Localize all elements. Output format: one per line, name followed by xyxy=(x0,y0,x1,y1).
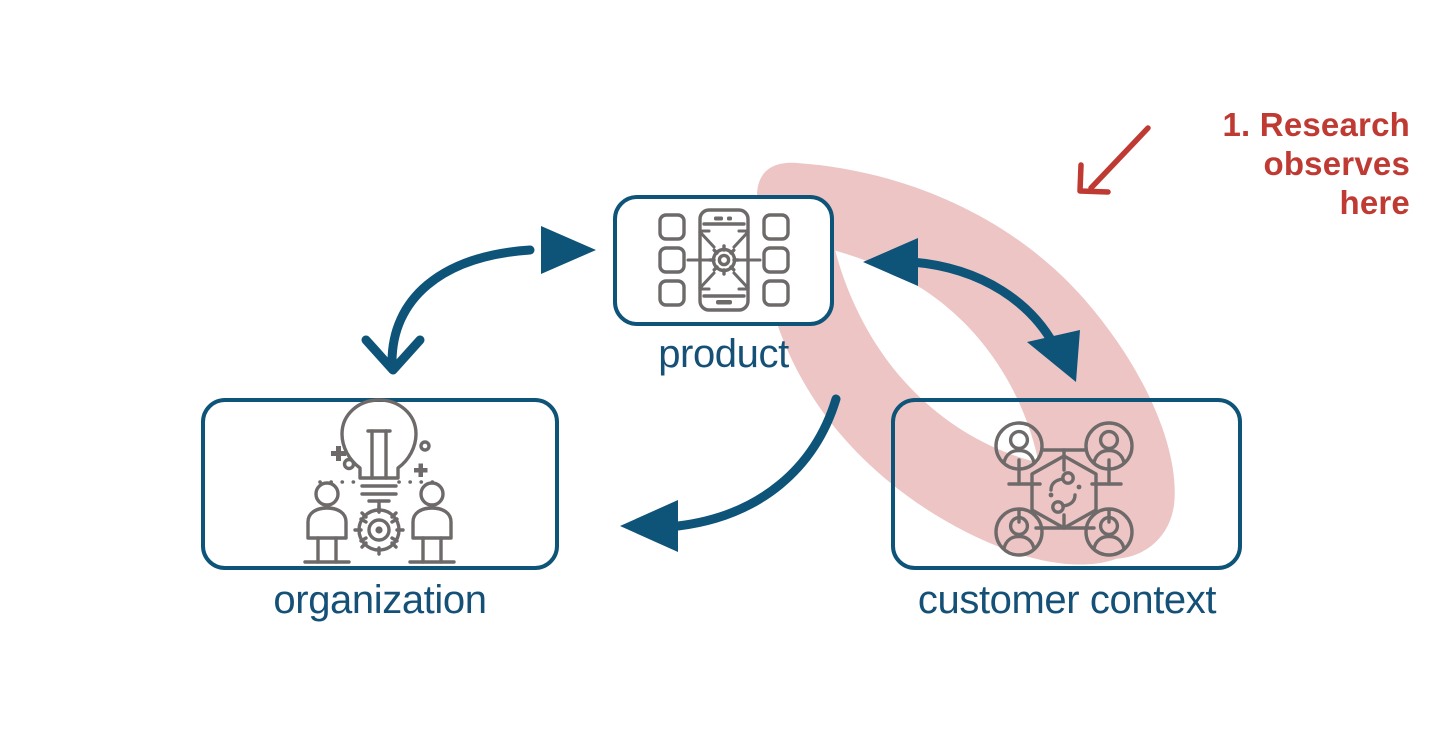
research-annotation: 1. Research observes here xyxy=(1140,106,1410,223)
organization-product-double-arrow xyxy=(366,226,596,370)
arrowhead-left-solid xyxy=(620,500,678,552)
arrowhead-right-solid xyxy=(541,226,596,274)
diagram-canvas: product organization customer context 1.… xyxy=(0,0,1451,731)
node-organization[interactable] xyxy=(203,400,557,568)
node-label-organization: organization xyxy=(203,578,557,623)
annotation-arrow-down-left xyxy=(1080,128,1148,192)
customer-context-organization-arrow xyxy=(620,399,836,552)
node-product[interactable] xyxy=(615,197,832,324)
organization-box[interactable] xyxy=(203,400,557,568)
node-label-product: product xyxy=(615,332,832,377)
node-label-customer-context: customer context xyxy=(880,578,1254,623)
product-box[interactable] xyxy=(615,197,832,324)
